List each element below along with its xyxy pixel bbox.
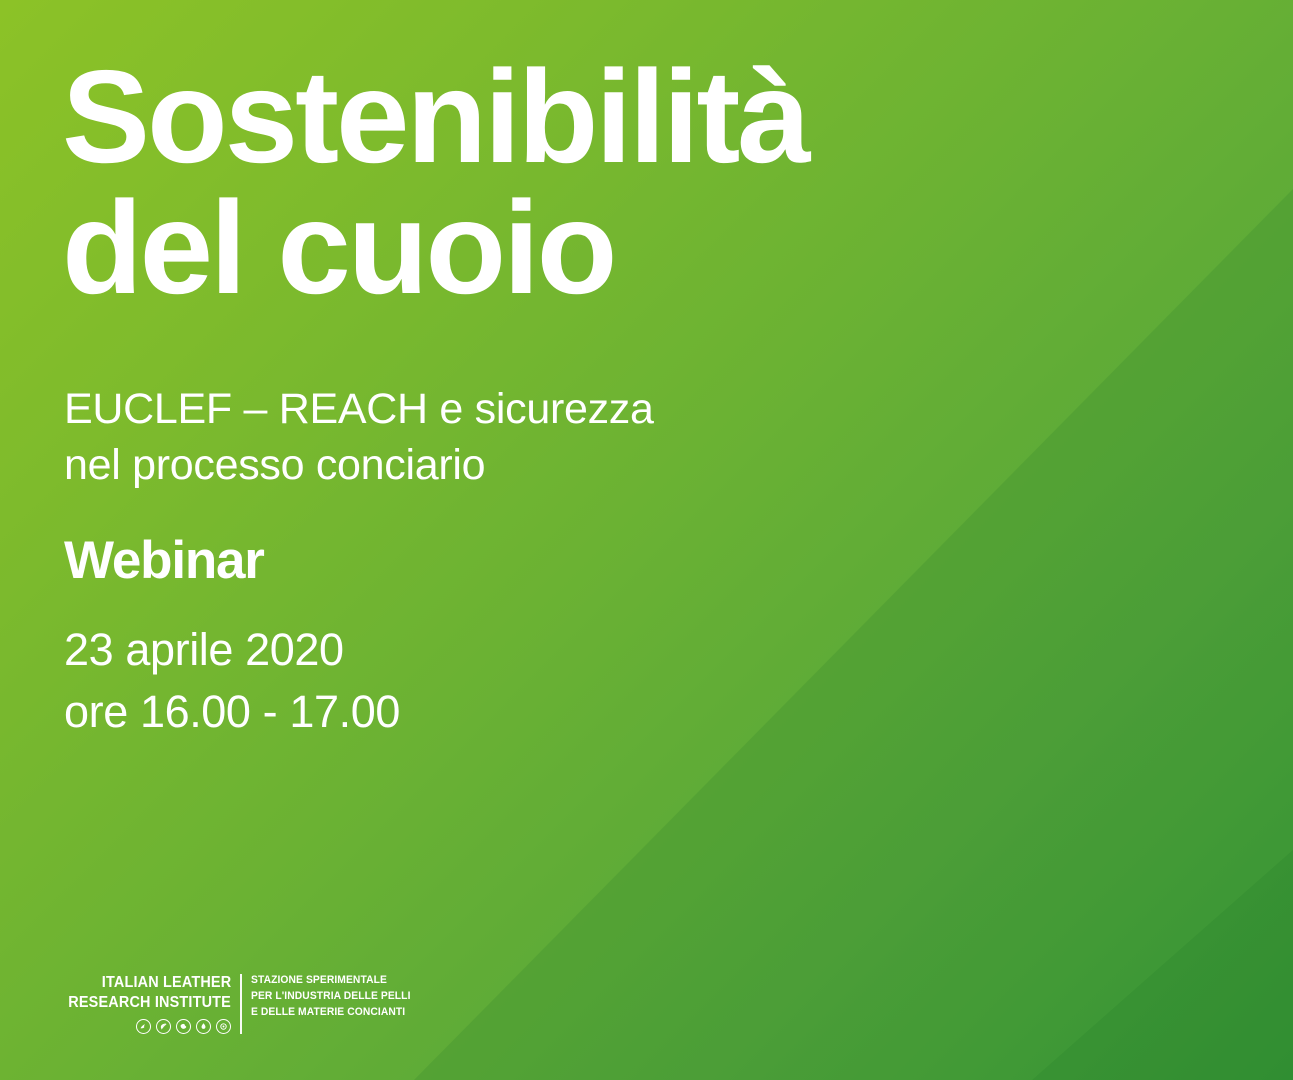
event-type-label: Webinar bbox=[64, 534, 264, 587]
target-circle-icon bbox=[216, 1019, 231, 1034]
logo-descriptor-line-1: STAZIONE SPERIMENTALE bbox=[251, 973, 411, 989]
logo-descriptor: STAZIONE SPERIMENTALE PER L'INDUSTRIA DE… bbox=[242, 973, 424, 1021]
event-datetime: 23 aprile 2020 ore 16.00 - 17.00 bbox=[64, 619, 764, 743]
logo-wordmark-line-2: RESEARCH INSTITUTE bbox=[68, 993, 231, 1013]
logo-wordmark-line-1: ITALIAN LEATHER bbox=[101, 973, 231, 993]
leaf-icon bbox=[156, 1019, 171, 1034]
logo-descriptor-line-3: E DELLE MATERIE CONCIANTI bbox=[251, 1005, 411, 1021]
logo-icon-row bbox=[136, 1019, 231, 1034]
poster-subtitle: EUCLEF – REACH e sicurezza nel processo … bbox=[64, 382, 964, 494]
page-title: Sostenibilità del cuoio bbox=[62, 52, 1102, 313]
logo-wordmark: ITALIAN LEATHER RESEARCH INSTITUTE bbox=[56, 973, 240, 1034]
poster-content: Sostenibilità del cuoio EUCLEF – REACH e… bbox=[62, 0, 1142, 1080]
poster-canvas: Sostenibilità del cuoio EUCLEF – REACH e… bbox=[0, 0, 1293, 1080]
hide-skin-icon bbox=[176, 1019, 191, 1034]
drop-flask-icon bbox=[196, 1019, 211, 1034]
hide-roll-icon bbox=[136, 1019, 151, 1034]
logo-divider bbox=[240, 974, 242, 1034]
logo-descriptor-line-2: PER L'INDUSTRIA DELLE PELLI bbox=[251, 989, 411, 1005]
organization-logo: ITALIAN LEATHER RESEARCH INSTITUTE bbox=[56, 973, 424, 1034]
